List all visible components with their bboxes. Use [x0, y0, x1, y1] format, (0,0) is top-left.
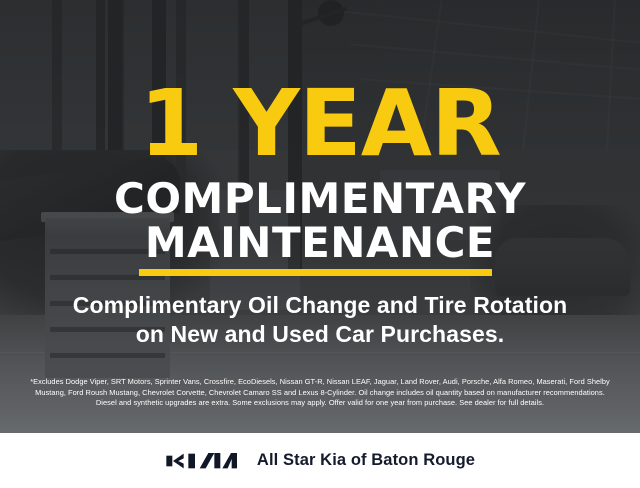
disclaimer-line-3: Diesel and synthetic upgrades are extra.…: [12, 398, 628, 409]
footer-bar: All Star Kia of Baton Rouge: [0, 433, 640, 488]
headline-maintenance: MAINTENANCE: [0, 222, 640, 264]
promotional-banner: 1 YEAR COMPLIMENTARY MAINTENANCE Complim…: [0, 0, 640, 488]
accent-divider-bar: [139, 269, 492, 276]
disclaimer-line-2: Mustang, Ford Roush Mustang, Chevrolet C…: [12, 388, 628, 399]
headline-year: 1 YEAR: [0, 78, 640, 170]
disclaimer-line-1: *Excludes Dodge Viper, SRT Motors, Sprin…: [12, 377, 628, 388]
offer-description-line-1: Complimentary Oil Change and Tire Rotati…: [0, 292, 640, 319]
kia-logo-icon: [165, 451, 239, 471]
headline-complimentary: COMPLIMENTARY: [0, 178, 640, 220]
dealer-name: All Star Kia of Baton Rouge: [257, 451, 475, 470]
banner-content: 1 YEAR COMPLIMENTARY MAINTENANCE Complim…: [0, 0, 640, 433]
footer-brand-group: All Star Kia of Baton Rouge: [165, 451, 475, 471]
offer-description-line-2: on New and Used Car Purchases.: [0, 321, 640, 348]
disclaimer-text: *Excludes Dodge Viper, SRT Motors, Sprin…: [12, 377, 628, 409]
